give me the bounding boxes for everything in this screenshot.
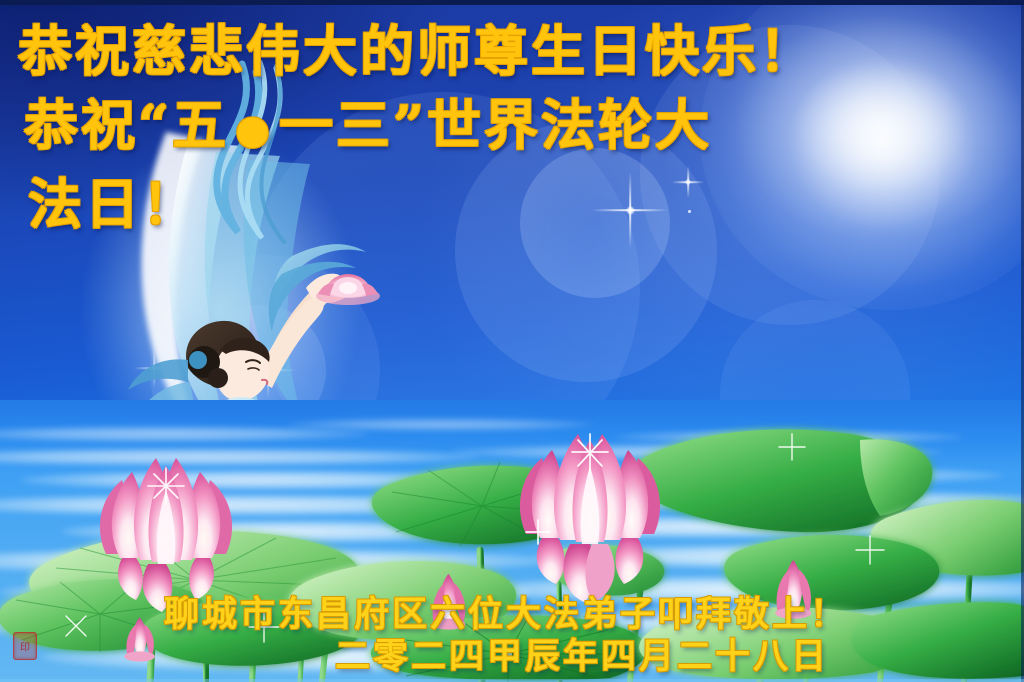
filled-circle-icon: ●: [229, 106, 279, 153]
frame-top-edge: [0, 0, 1024, 5]
signature-line-sender: 聊城市东昌府区六位大法弟子叩拜敬上！: [0, 594, 1018, 636]
headline-line-2: 恭祝“五●一三”世界法轮大: [18, 88, 1008, 167]
seal-glyph: 印: [20, 639, 30, 654]
headline-line-2-before: 恭祝“五: [24, 93, 229, 157]
signature-block: 聊城市东昌府区六位大法弟子叩拜敬上！ 二零二四甲辰年四月二十八日: [0, 594, 1024, 678]
headline-line-3: 法日！: [18, 167, 1008, 241]
headline-line-1: 恭祝慈悲伟大的师尊生日快乐！: [18, 14, 1008, 88]
headline-block: 恭祝慈悲伟大的师尊生日快乐！ 恭祝“五●一三”世界法轮大 法日！: [0, 0, 1024, 241]
greeting-card: 恭祝慈悲伟大的师尊生日快乐！ 恭祝“五●一三”世界法轮大 法日！ 聊城市东昌府区…: [0, 0, 1024, 682]
red-seal-stamp: 印: [13, 632, 37, 660]
signature-line-date: 二零二四甲辰年四月二十八日: [70, 636, 1024, 678]
headline-line-2-after: 一三”世界法轮大: [279, 93, 712, 157]
